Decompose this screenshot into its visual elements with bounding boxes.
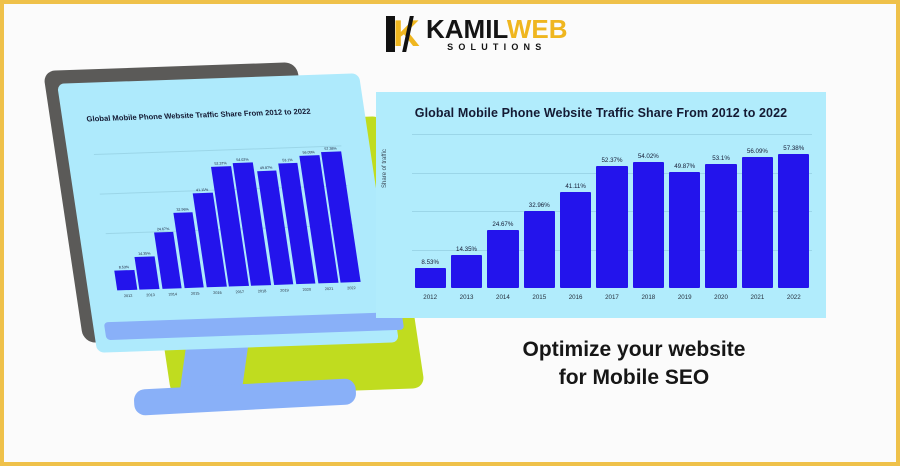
infographic-canvas: K KAMILWEB SOLUTIONS Global Mobile Phone… — [0, 0, 900, 466]
bar-value-label: 41.11% — [196, 188, 209, 192]
bar-rect — [778, 154, 809, 288]
bar-value-label: 49.87% — [674, 163, 695, 170]
bar-value-label: 8.53% — [119, 266, 130, 270]
logo-wordmark: KAMILWEB SOLUTIONS — [426, 16, 568, 52]
bar-value-label: 54.02% — [236, 157, 249, 161]
tagline-line-2: for Mobile SEO — [474, 364, 794, 392]
bar-column: 24.67% — [487, 134, 518, 288]
bar-column: 8.53% — [415, 134, 446, 288]
bar-value-label: 41.11% — [565, 183, 586, 190]
bar-value-label: 57.38% — [783, 145, 804, 152]
x-axis-tick: 2022 — [778, 294, 809, 306]
logo-k-mark-icon: K — [386, 16, 420, 52]
x-axis-tick: 2016 — [560, 294, 591, 306]
x-axis-tick: 2014 — [487, 294, 518, 306]
bar-value-label: 56.09% — [302, 150, 315, 154]
x-axis-tick: 2012 — [415, 294, 446, 306]
chart-y-axis-label: Share of traffic — [382, 149, 388, 188]
x-axis-tick: 2016 — [207, 291, 227, 296]
bar-rect — [705, 164, 736, 288]
bar-rect — [415, 268, 446, 288]
bar-value-label: 53.1% — [282, 158, 293, 162]
bar-column: 56.09% — [742, 134, 773, 288]
brand-logo: K KAMILWEB SOLUTIONS — [386, 16, 568, 52]
monitor-chart-title: Global Mobile Phone Website Traffic Shar… — [86, 105, 349, 123]
bar-value-label: 32.96% — [176, 208, 189, 212]
logo-word-primary: KAMIL — [426, 14, 507, 44]
chart-x-axis: 2012201320142015201620172018201920202021… — [412, 294, 812, 306]
bar-rect — [451, 255, 482, 288]
logo-subtitle: SOLUTIONS — [426, 43, 568, 52]
traffic-share-chart: Global Mobile Phone Website Traffic Shar… — [376, 92, 826, 318]
bar-column: 54.02% — [633, 134, 664, 288]
x-axis-tick: 2018 — [252, 289, 272, 294]
bar-rect — [524, 211, 555, 288]
bar-rect — [633, 162, 664, 288]
x-axis-tick: 2022 — [341, 286, 361, 291]
bar-value-label: 24.67% — [492, 221, 513, 228]
x-axis-tick: 2021 — [319, 287, 339, 292]
x-axis-tick: 2019 — [274, 288, 294, 293]
x-axis-tick: 2021 — [742, 294, 773, 306]
bar-value-label: 24.67% — [157, 227, 170, 231]
monitor-screen: Global Mobile Phone Website Traffic Shar… — [57, 73, 399, 353]
bar-value-label: 56.09% — [747, 148, 768, 155]
bar-value-label: 14.35% — [456, 246, 477, 253]
monitor-chart-bars: 8.53%14.35%24.67%32.96%41.11%52.37%54.02… — [94, 132, 362, 291]
bar-value-label: 14.35% — [138, 251, 151, 255]
bar-rect — [669, 172, 700, 288]
bar-column: 32.96% — [524, 134, 555, 288]
bar-value-label: 57.38% — [324, 146, 337, 150]
x-axis-tick: 2013 — [140, 293, 160, 298]
x-axis-tick: 2018 — [633, 294, 664, 306]
x-axis-tick: 2017 — [596, 294, 627, 306]
tagline-line-1: Optimize your website — [474, 336, 794, 364]
x-axis-tick: 2015 — [524, 294, 555, 306]
monitor-stand-base — [133, 378, 356, 416]
tagline: Optimize your website for Mobile SEO — [474, 336, 794, 393]
bar-value-label: 49.87% — [260, 166, 273, 170]
bar-rect — [115, 270, 138, 290]
x-axis-tick: 2013 — [451, 294, 482, 306]
bar-value-label: 32.96% — [529, 202, 550, 209]
x-axis-tick: 2012 — [118, 294, 138, 299]
bar-rect — [135, 256, 160, 289]
x-axis-tick: 2017 — [230, 290, 250, 295]
x-axis-tick: 2014 — [163, 292, 183, 297]
bar-rect — [596, 166, 627, 288]
bar-column: 53.1% — [705, 134, 736, 288]
monitor-screen-chart: Global Mobile Phone Website Traffic Shar… — [57, 73, 399, 353]
bar-rect — [487, 230, 518, 288]
bar-column: 14.35% — [451, 134, 482, 288]
x-axis-tick: 2015 — [185, 291, 205, 296]
bar-rect — [560, 192, 591, 288]
bar-value-label: 53.1% — [712, 155, 730, 162]
logo-word-accent: WEB — [507, 14, 568, 44]
chart-plot-area: 8.53%14.35%24.67%32.96%41.11%52.37%54.02… — [412, 134, 812, 288]
chart-title: Global Mobile Phone Website Traffic Shar… — [376, 106, 826, 120]
bar-column: 52.37% — [596, 134, 627, 288]
bar-column: 41.11% — [560, 134, 591, 288]
bar-value-label: 54.02% — [638, 153, 659, 160]
x-axis-tick: 2020 — [297, 287, 317, 292]
bar-value-label: 52.37% — [601, 157, 622, 164]
bar-column: 57.38% — [778, 134, 809, 288]
monitor-illustration: Global Mobile Phone Website Traffic Shar… — [56, 59, 416, 404]
bar-column: 49.87% — [669, 134, 700, 288]
bar-rect — [742, 157, 773, 288]
x-axis-tick: 2019 — [669, 294, 700, 306]
logo-words: KAMILWEB — [426, 16, 568, 42]
bar-value-label: 52.37% — [214, 162, 227, 166]
x-axis-tick: 2020 — [705, 294, 736, 306]
bar-value-label: 8.53% — [421, 259, 439, 266]
chart-bars: 8.53%14.35%24.67%32.96%41.11%52.37%54.02… — [412, 134, 812, 288]
